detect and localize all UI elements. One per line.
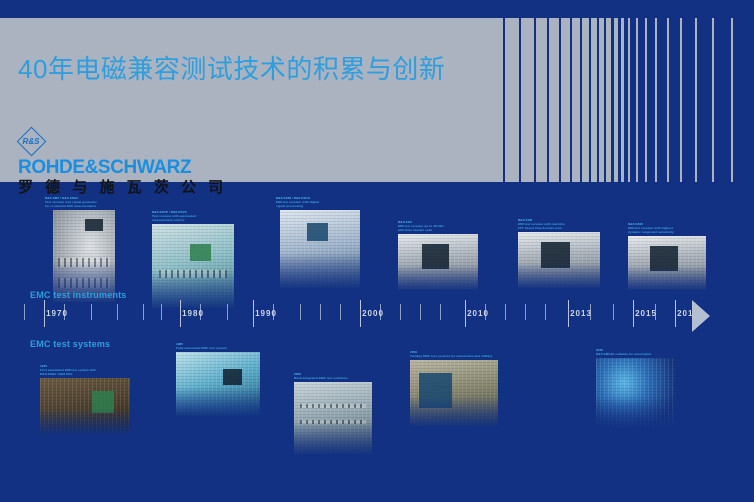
product-photo (628, 236, 706, 290)
timeline-tick-major (360, 300, 361, 327)
timeline-year-label: 2000 (362, 309, 384, 318)
header-stripe (521, 18, 534, 182)
timeline-tick-major (675, 300, 676, 327)
timeline-year-label: 2015 (635, 309, 657, 318)
logo-wordmark: ROHDE&SCHWARZ (18, 157, 228, 178)
timeline-year-label: 1990 (255, 309, 277, 318)
product-photo (398, 234, 478, 290)
timeline-tick-minor (613, 304, 614, 320)
header-stripe-gap (589, 18, 590, 182)
card-caption: 1985 Fully automated EMC test system (176, 342, 268, 350)
header-stripe-gap (604, 18, 605, 182)
brand-logo: R&S ROHDE&SCHWARZ 罗 德 与 施 瓦 茨 公 司 (18, 128, 228, 197)
header-stripe-gap (519, 18, 520, 182)
timeline-year-label: 2013 (570, 309, 592, 318)
product-photo (176, 352, 260, 416)
card-caption: R&S ESVP / R&S ESVS Test receiver with a… (152, 210, 240, 222)
header-stripe (549, 18, 559, 182)
timeline-year-label: 2010 (467, 309, 489, 318)
header-stripe-gap (611, 18, 612, 182)
product-card-instrument-1: R&S SMY / R&S ESH2 Test receiver and sig… (45, 196, 129, 302)
product-photo (280, 210, 360, 288)
header-stripe (636, 18, 638, 182)
timeline-tick-minor (545, 304, 546, 320)
timeline-tick-minor (117, 304, 118, 320)
card-caption: 2000 Rack integrated EMC test solutions (294, 372, 386, 380)
timeline-tick-minor (143, 304, 144, 320)
product-photo (40, 378, 130, 434)
header-stripe-gap (559, 18, 560, 182)
timeline-tick-minor (24, 304, 25, 320)
card-caption: 2016 R&S EMC32 software for automation (596, 348, 684, 356)
card-caption: R&S SMY / R&S ESH2 Test receiver and sig… (45, 196, 129, 208)
header-stripe (572, 18, 580, 182)
timeline-year-label: 1970 (46, 309, 68, 318)
timeline-tick-major (44, 300, 45, 327)
row-label-systems: EMC test systems (30, 339, 110, 349)
header-stripe-gap (570, 18, 571, 182)
page-title: 40年电磁兼容测试技术的积累与创新 (18, 54, 488, 84)
logo-chinese-name: 罗 德 与 施 瓦 茨 公 司 (18, 178, 228, 197)
header-stripe-gap (547, 18, 548, 182)
card-caption: R&S ESW EMI test receiver with highest d… (628, 222, 712, 234)
timeline-tick-minor (300, 304, 301, 320)
timeline-tick-major (568, 300, 569, 327)
header-stripe-pattern (503, 18, 754, 182)
header-stripe-gap (618, 18, 619, 182)
timeline-tick-minor (340, 304, 341, 320)
header-stripe (582, 18, 589, 182)
timeline-year-label: 1980 (182, 309, 204, 318)
product-card-system-1: 1970 First automated EMI test system wit… (40, 364, 134, 434)
product-photo (152, 224, 234, 308)
timeline-tick-minor (505, 304, 506, 320)
header-stripe (680, 18, 682, 182)
card-caption: 1970 First automated EMI test system wit… (40, 364, 134, 376)
header-stripe (561, 18, 570, 182)
timeline-tick-major (180, 300, 181, 327)
timeline-tick-major (633, 300, 634, 327)
product-card-instrument-4: R&S ESU EMI test receiver up to 40 GHz w… (398, 220, 482, 290)
product-photo (518, 232, 600, 288)
product-card-instrument-6: R&S ESW EMI test receiver with highest d… (628, 222, 712, 290)
product-photo (53, 210, 115, 302)
rs-diamond-logo-icon: R&S (18, 128, 44, 154)
card-caption: 2010 Turnkey EMC test systems for automo… (410, 350, 506, 358)
header-stripe (645, 18, 647, 182)
header-stripe (695, 18, 697, 182)
timeline-tick-minor (420, 304, 421, 320)
timeline-tick-major (253, 300, 254, 327)
timeline-tick-minor (400, 304, 401, 320)
timeline-arrow-right-icon (692, 300, 710, 332)
timeline-tick-minor (320, 304, 321, 320)
product-card-system-2: 1985 Fully automated EMC test system (176, 342, 268, 416)
card-caption: R&S ESIB / R&S ESCS EMI test receiver wi… (276, 196, 372, 208)
timeline-tick-minor (227, 304, 228, 320)
card-caption: R&S ESR EMI test receiver with real-time… (518, 218, 604, 230)
header-stripe (731, 18, 733, 182)
header-stripe-gap (580, 18, 581, 182)
product-card-system-3: 2000 Rack integrated EMC test solutions (294, 372, 386, 454)
timeline-tick-major (465, 300, 466, 327)
logo-mark-text: R&S (18, 128, 44, 154)
product-card-instrument-2: R&S ESVP / R&S ESVS Test receiver with a… (152, 210, 240, 308)
header-stripe (655, 18, 657, 182)
header-stripe (621, 18, 624, 182)
header-stripe (536, 18, 547, 182)
timeline-tick-minor (161, 304, 162, 320)
header-stripe (505, 18, 519, 182)
product-photo (596, 358, 676, 428)
card-caption: R&S ESU EMI test receiver up to 40 GHz w… (398, 220, 482, 232)
row-label-instruments: EMC test instruments (30, 290, 127, 300)
slide-root: 40年电磁兼容测试技术的积累与创新 R&S ROHDE&SCHWARZ 罗 德 … (0, 0, 754, 502)
product-card-system-5: 2016 R&S EMC32 software for automation (596, 348, 684, 428)
header-stripe (628, 18, 630, 182)
timeline-tick-minor (91, 304, 92, 320)
header-stripe-gap (534, 18, 535, 182)
timeline-axis: 19701980199020002010201320152016 (0, 300, 754, 333)
product-card-instrument-5: R&S ESR EMI test receiver with real-time… (518, 218, 604, 288)
product-photo (294, 382, 372, 454)
timeline-tick-minor (440, 304, 441, 320)
header-stripe-gap (597, 18, 598, 182)
product-photo (410, 360, 498, 426)
header-stripe (667, 18, 669, 182)
header-stripe (712, 18, 714, 182)
product-card-system-4: 2010 Turnkey EMC test systems for automo… (410, 350, 506, 426)
timeline-tick-minor (525, 304, 526, 320)
product-card-instrument-3: R&S ESIB / R&S ESCS EMI test receiver wi… (276, 196, 372, 288)
header-band: 40年电磁兼容测试技术的积累与创新 R&S ROHDE&SCHWARZ 罗 德 … (0, 18, 754, 182)
